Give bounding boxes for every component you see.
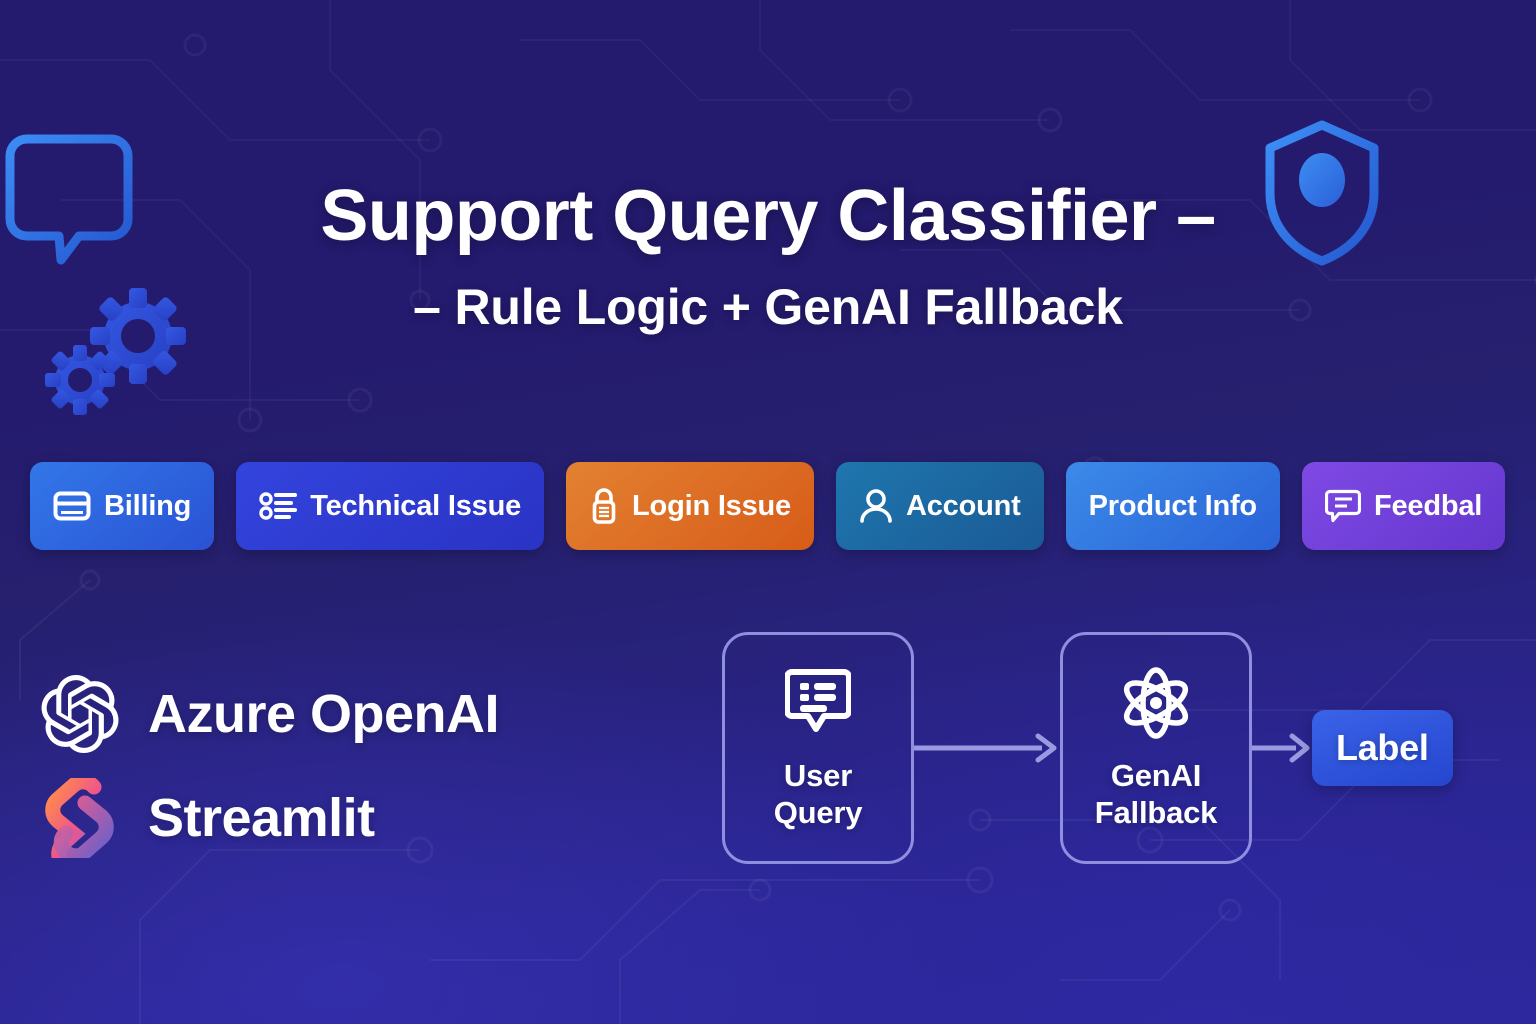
page-title: Support Query Classifier – <box>0 178 1536 256</box>
arrow-right-icon <box>1252 733 1312 763</box>
pipeline-node-label: UserQuery <box>774 757 863 831</box>
chip-label: Product Info <box>1089 490 1257 523</box>
page-subtitle: – Rule Logic + GenAI Fallback <box>0 278 1536 336</box>
title-block: Support Query Classifier – – Rule Logic … <box>0 178 1536 336</box>
chip-login-issue[interactable]: Login Issue <box>566 462 814 550</box>
chip-technical-issue[interactable]: Technical Issue <box>236 462 544 550</box>
list-settings-icon <box>259 491 297 521</box>
pipeline-diagram: UserQuery GenAIFallback <box>722 632 1453 864</box>
streamlit-logo <box>40 778 120 858</box>
openai-logo <box>40 674 120 754</box>
message-icon <box>1325 489 1361 523</box>
pipeline-node-user-query[interactable]: UserQuery <box>722 632 914 864</box>
tech-item-azure-openai: Azure OpenAI <box>40 662 499 766</box>
tech-item-streamlit: Streamlit <box>40 766 499 870</box>
chip-label: Feedbal <box>1374 490 1482 523</box>
chip-product-info[interactable]: Product Info <box>1066 462 1280 550</box>
pipeline-node-genai-fallback[interactable]: GenAIFallback <box>1060 632 1252 864</box>
user-icon <box>859 488 893 524</box>
message-list-icon <box>785 665 851 741</box>
node-label-line2: Query <box>774 795 863 830</box>
node-label-line1: GenAI <box>1111 758 1201 793</box>
credit-card-icon <box>53 491 91 521</box>
node-label-line2: Fallback <box>1095 795 1217 830</box>
node-label-line1: User <box>784 758 852 793</box>
chip-billing[interactable]: Billing <box>30 462 214 550</box>
chip-label: Billing <box>104 490 191 523</box>
chip-account[interactable]: Account <box>836 462 1044 550</box>
tech-stack-list: Azure OpenAI <box>40 662 499 870</box>
poster-canvas: Support Query Classifier – – Rule Logic … <box>0 0 1536 1024</box>
lock-icon <box>589 487 619 525</box>
arrow-right-icon <box>914 733 1060 763</box>
atom-icon <box>1120 665 1192 741</box>
chip-label: Login Issue <box>632 490 791 523</box>
category-chip-row: Billing Technical Issue <box>30 462 1505 550</box>
tech-label: Streamlit <box>148 787 375 849</box>
chip-label: Account <box>906 490 1021 523</box>
pipeline-output-label[interactable]: Label <box>1312 710 1453 786</box>
pipeline-node-label: GenAIFallback <box>1095 757 1217 831</box>
chip-feedbal[interactable]: Feedbal <box>1302 462 1505 550</box>
chip-label: Technical Issue <box>310 490 521 523</box>
tech-label: Azure OpenAI <box>148 683 499 745</box>
